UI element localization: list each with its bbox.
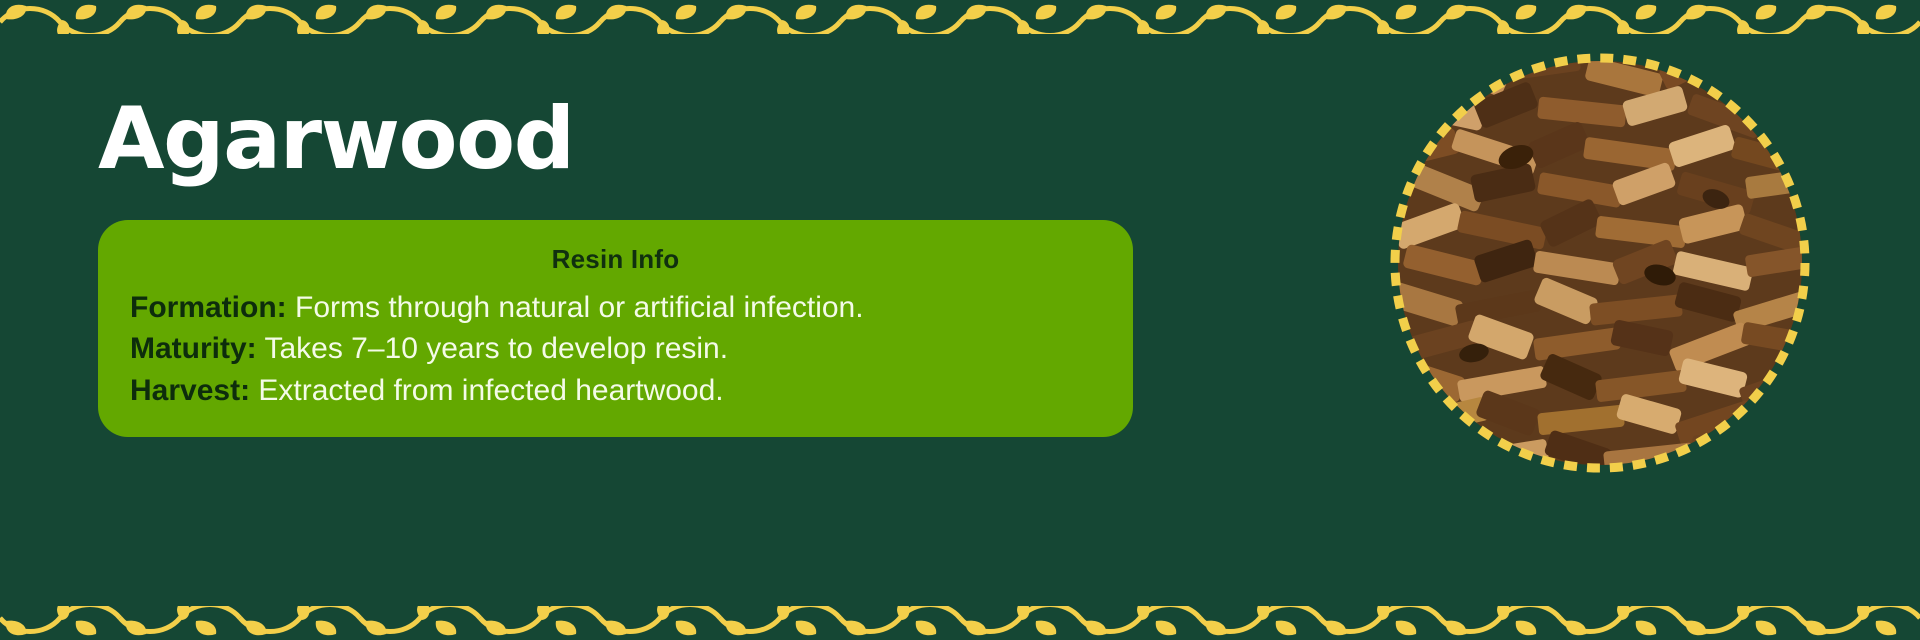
info-value-formation: Forms through natural or artificial infe…: [295, 291, 864, 324]
resin-info-heading: Resin Info: [130, 244, 1101, 275]
resin-info-card: Resin Info Formation: Forms through natu…: [98, 220, 1133, 437]
info-row-maturity: Maturity: Takes 7–10 years to develop re…: [130, 328, 1101, 369]
info-label-maturity: Maturity:: [130, 332, 257, 365]
info-label-formation: Formation:: [130, 291, 287, 324]
info-row-harvest: Harvest: Extracted from infected heartwo…: [130, 370, 1101, 411]
info-value-harvest: Extracted from infected heartwood.: [258, 374, 723, 407]
page-title: Agarwood: [98, 96, 1138, 184]
info-value-maturity: Takes 7–10 years to develop resin.: [264, 332, 728, 365]
wood-chips-image: [1398, 61, 1802, 465]
content-column: Agarwood Resin Info Formation: Forms thr…: [98, 96, 1138, 437]
info-label-harvest: Harvest:: [130, 374, 250, 407]
vine-border-bottom-icon: [0, 606, 1920, 640]
info-row-formation: Formation: Forms through natural or arti…: [130, 287, 1101, 328]
agarwood-photo: [1390, 53, 1810, 473]
agarwood-banner: Agarwood Resin Info Formation: Forms thr…: [0, 0, 1920, 640]
vine-border-top-icon: [0, 0, 1920, 34]
agarwood-photo-disc: [1398, 61, 1802, 465]
